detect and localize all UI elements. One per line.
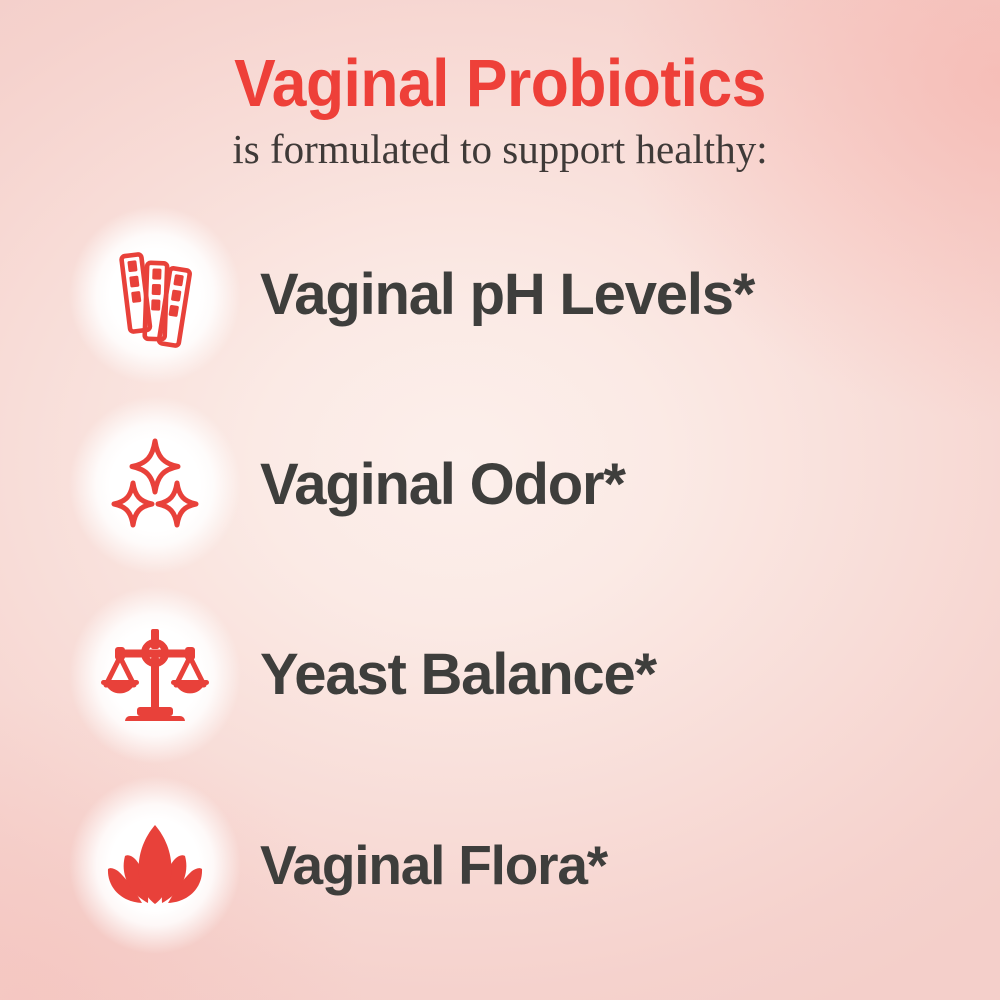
balance-scale-icon <box>101 621 209 729</box>
benefits-list: Vaginal pH Levels* Vaginal Odor* <box>0 200 1000 960</box>
benefit-row-odor: Vaginal Odor* <box>0 390 1000 580</box>
page-title: Vaginal Probiotics <box>35 0 965 117</box>
icon-container <box>60 200 250 390</box>
lotus-flower-icon <box>101 811 209 919</box>
header: Vaginal Probiotics is formulated to supp… <box>0 0 1000 170</box>
icon-container <box>60 390 250 580</box>
benefit-row-yeast-balance: Yeast Balance* <box>0 580 1000 770</box>
page-subtitle: is formulated to support healthy: <box>0 117 1000 170</box>
icon-container <box>60 580 250 770</box>
benefit-label: Vaginal Odor* <box>260 456 625 514</box>
benefit-label: Yeast Balance* <box>260 646 656 704</box>
benefit-label: Vaginal Flora* <box>260 838 607 893</box>
benefit-row-flora: Vaginal Flora* <box>0 770 1000 960</box>
ph-test-strips-icon <box>101 241 209 349</box>
icon-container <box>60 770 250 960</box>
benefit-row-ph-levels: Vaginal pH Levels* <box>0 200 1000 390</box>
benefit-label: Vaginal pH Levels* <box>260 266 754 324</box>
vaginal-probiotics-infographic: Vaginal Probiotics is formulated to supp… <box>0 0 1000 1000</box>
sparkles-icon <box>101 431 209 539</box>
